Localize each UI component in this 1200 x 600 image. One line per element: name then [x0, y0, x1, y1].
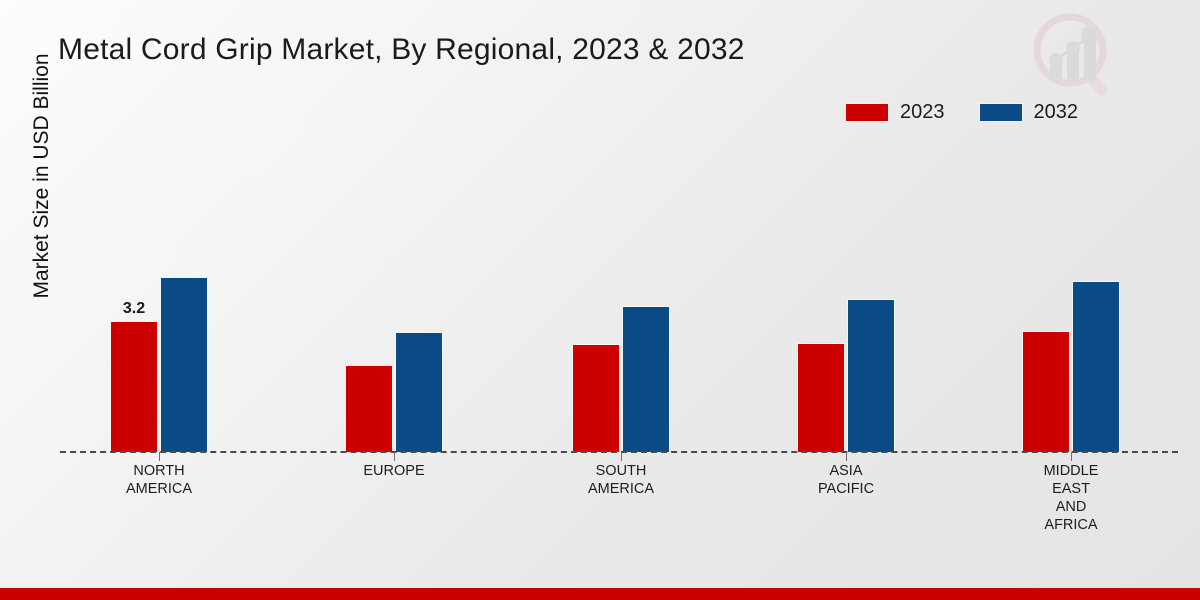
bar-2032[interactable] — [395, 332, 443, 452]
category-label-line: AFRICA — [996, 516, 1146, 534]
category-label-line: AND — [996, 498, 1146, 516]
legend-item-2023[interactable]: 2023 — [845, 101, 945, 124]
legend-swatch-red-icon — [845, 103, 889, 122]
bar-2023[interactable] — [345, 365, 393, 452]
chart-legend: 2023 2032 — [845, 101, 1078, 124]
category-label-line: AMERICA — [84, 480, 234, 498]
x-axis-category-label: ASIAPACIFIC — [771, 462, 921, 498]
bar-2032[interactable] — [847, 299, 895, 452]
category-label-line: EUROPE — [319, 462, 469, 480]
category-label-line: ASIA — [771, 462, 921, 480]
x-axis-category-label: EUROPE — [319, 462, 469, 480]
category-label-line: EAST — [996, 480, 1146, 498]
legend-swatch-blue-icon — [979, 103, 1023, 122]
bar-2023[interactable] — [572, 344, 620, 452]
x-axis-baseline — [60, 451, 1178, 453]
y-axis-label: Market Size in USD Billion — [30, 16, 54, 336]
category-label-line: MIDDLE — [996, 462, 1146, 480]
x-axis-tick — [621, 452, 622, 461]
x-axis-category-label: NORTHAMERICA — [84, 462, 234, 498]
legend-label-2032: 2032 — [1034, 101, 1079, 124]
bar-2032[interactable] — [1072, 281, 1120, 452]
footer-accent-bar — [0, 588, 1200, 600]
bar-2023[interactable] — [110, 321, 158, 452]
magnifier-bar-chart-logo-icon — [1026, 8, 1122, 100]
legend-label-2023: 2023 — [900, 101, 945, 124]
plot-area: 3.2 — [60, 140, 1170, 452]
chart-canvas: Metal Cord Grip Market, By Regional, 202… — [0, 0, 1200, 600]
x-axis-tick — [846, 452, 847, 461]
bar-2032[interactable] — [160, 277, 208, 452]
x-axis-tick — [394, 452, 395, 461]
category-label-line: NORTH — [84, 462, 234, 480]
bar-value-label: 3.2 — [108, 300, 160, 318]
chart-title: Metal Cord Grip Market, By Regional, 202… — [58, 33, 745, 67]
category-label-line: PACIFIC — [771, 480, 921, 498]
bar-2032[interactable] — [622, 306, 670, 452]
x-axis-tick — [1071, 452, 1072, 461]
bar-2023[interactable] — [1022, 331, 1070, 452]
x-axis-category-label: MIDDLEEASTANDAFRICA — [996, 462, 1146, 534]
x-axis-category-label: SOUTHAMERICA — [546, 462, 696, 498]
legend-item-2032[interactable]: 2032 — [979, 101, 1079, 124]
bar-2023[interactable] — [797, 343, 845, 452]
x-axis-tick — [159, 452, 160, 461]
category-label-line: SOUTH — [546, 462, 696, 480]
category-label-line: AMERICA — [546, 480, 696, 498]
